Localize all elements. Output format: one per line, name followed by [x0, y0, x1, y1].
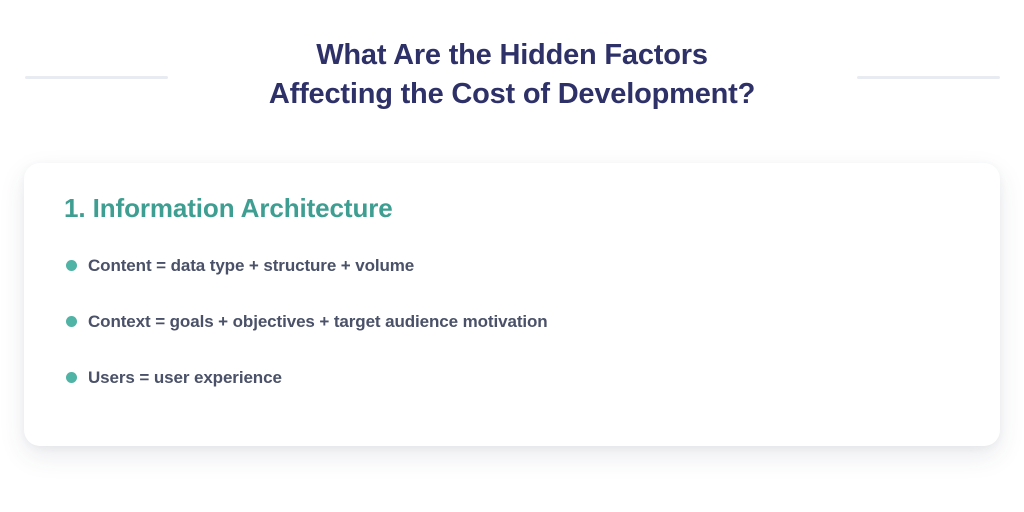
bullet-list: Content = data type + structure + volume… — [64, 256, 972, 387]
list-item-label: Context = goals + objectives + target au… — [88, 312, 972, 331]
list-item: Content = data type + structure + volume — [64, 256, 972, 275]
bullet-dot-icon — [66, 372, 77, 383]
content-card: 1. Information Architecture Content = da… — [24, 163, 1000, 446]
bullet-dot-icon — [66, 316, 77, 327]
list-item-label: Content = data type + structure + volume — [88, 256, 972, 275]
slide-canvas: What Are the Hidden Factors Affecting th… — [0, 0, 1024, 512]
bullet-dot-icon — [66, 260, 77, 271]
page-title-line-1: What Are the Hidden Factors — [0, 36, 1024, 75]
list-item-label: Users = user experience — [88, 368, 972, 387]
header-section: What Are the Hidden Factors Affecting th… — [0, 0, 1024, 140]
list-item: Context = goals + objectives + target au… — [64, 312, 972, 331]
page-title: What Are the Hidden Factors Affecting th… — [0, 36, 1024, 114]
page-title-line-2: Affecting the Cost of Development? — [0, 75, 1024, 114]
card-heading: 1. Information Architecture — [64, 193, 393, 224]
list-item: Users = user experience — [64, 368, 972, 387]
